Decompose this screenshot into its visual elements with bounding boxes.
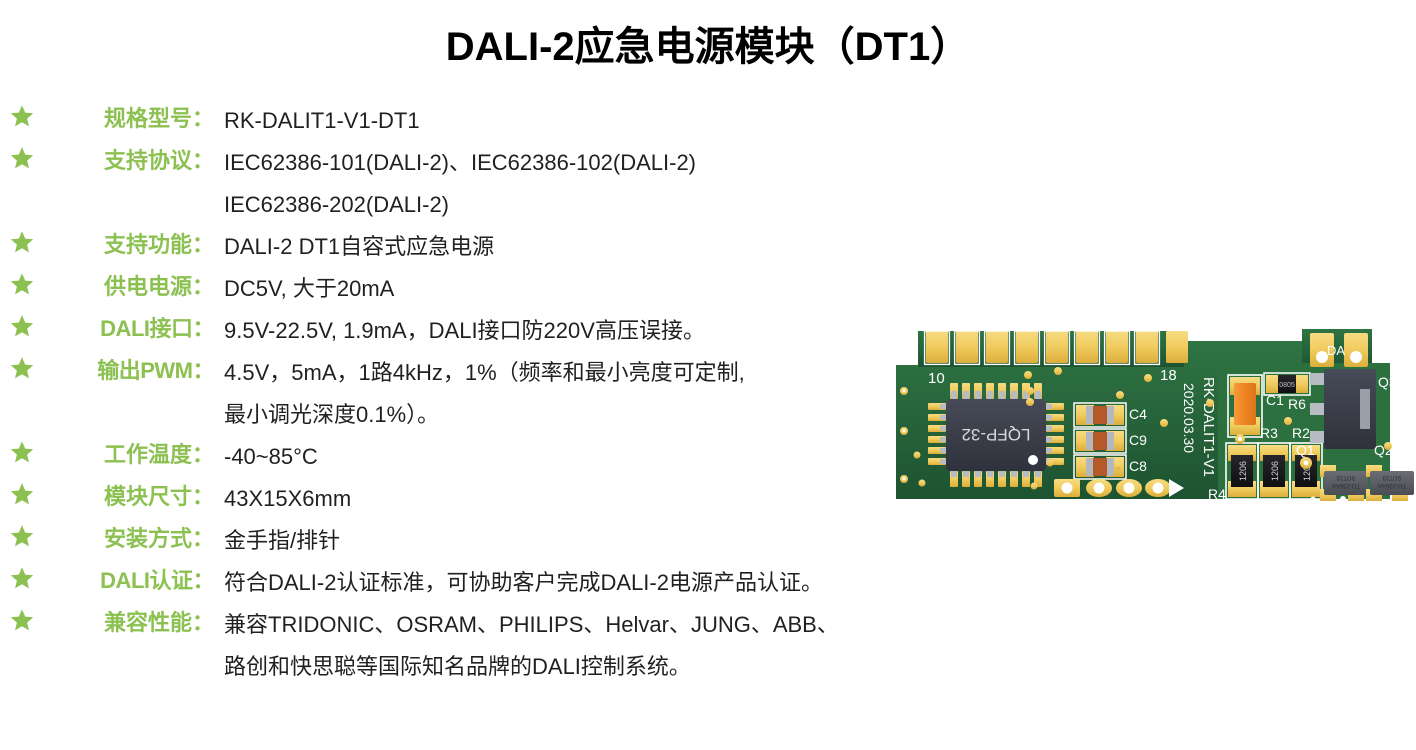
spec-row: 模块尺寸： 43X15X6mm [0,478,880,520]
refdes-c4: C4 [1129,406,1147,422]
spec-value: 符合DALI-2认证标准，可协助客户完成DALI-2电源产品认证。 [214,562,880,604]
star-icon [10,482,34,506]
star-icon [10,146,34,170]
star-icon [10,356,34,380]
star-bullet [0,478,44,506]
spec-value: 兼容TRIDONIC、OSRAM、PHILIPS、Helvar、JUNG、ABB… [214,604,880,688]
spec-row: 支持协议： IEC62386-101(DALI-2)、IEC62386-102(… [0,142,880,226]
star-icon [10,104,34,128]
star-bullet [0,604,44,632]
spec-value: 9.5V-22.5V, 1.9mA，DALI接口防220V高压误接。 [214,310,880,352]
capacitor-array: C4 C9 C8 [1074,403,1147,479]
gold-finger-connector [925,331,1188,364]
spec-label: 规格型号： [44,100,214,138]
spec-value-line: RK-DALIT1-V1-DT1 [224,100,880,142]
spec-label: DALI认证： [44,562,214,600]
silkscreen-pin-10: 10 [928,370,945,387]
spec-label: 工作温度： [44,436,214,474]
star-bullet [0,268,44,296]
pcb-board-graphic: DA 10 18 RK-DALIT1-V1 2020.03.30 [888,303,1416,535]
spec-label: 支持功能： [44,226,214,264]
star-icon [10,314,34,338]
star-icon [10,608,34,632]
spec-row: 规格型号： RK-DALIT1-V1-DT1 [0,100,880,142]
spec-label: 安装方式： [44,520,214,558]
spec-value: RK-DALIT1-V1-DT1 [214,100,880,142]
refdes-q3: Q3 [1378,374,1397,390]
refdes-r4: R4 [1208,486,1226,502]
silkscreen-date-code: 2020.03.30 [1181,383,1197,453]
spec-value: DALI-2 DT1自容式应急电源 [214,226,880,268]
spec-value: 43X15X6mm [214,478,880,520]
spec-label: 输出PWM： [44,352,214,390]
spec-label: 支持协议： [44,142,214,180]
refdes-c9: C9 [1129,432,1147,448]
spec-value-line: DC5V, 大于20mA [224,268,880,310]
svg-text:TO-236AA: TO-236AA [1332,482,1360,488]
spec-value-line: IEC62386-101(DALI-2)、IEC62386-102(DALI-2… [224,142,880,184]
spec-label: 兼容性能： [44,604,214,642]
spec-list: 规格型号： RK-DALIT1-V1-DT1 支持协议： IEC62386-10… [0,100,880,688]
spec-value: -40~85°C [214,436,880,478]
star-bullet [0,310,44,338]
svg-text:TO-236AA: TO-236AA [1378,482,1406,488]
pcb-board-photo: DA 10 18 RK-DALIT1-V1 2020.03.30 [888,303,1416,535]
star-bullet [0,436,44,464]
spec-row: 安装方式： 金手指/排针 [0,520,880,562]
spec-row: DALI接口： 9.5V-22.5V, 1.9mA，DALI接口防220V高压误… [0,310,880,352]
spec-value-line: 符合DALI-2认证标准，可协助客户完成DALI-2电源产品认证。 [224,562,880,604]
spec-value: 金手指/排针 [214,520,880,562]
spec-row: 兼容性能： 兼容TRIDONIC、OSRAM、PHILIPS、Helvar、JU… [0,604,880,688]
silkscreen-part-number: RK-DALIT1-V1 [1200,377,1217,477]
sot23-marking-q1: SOT23 [1336,474,1356,480]
refdes-c8: C8 [1129,458,1147,474]
resistor-code-0805: 0805 [1279,382,1295,389]
star-icon [10,566,34,590]
star-bullet [0,100,44,128]
resistor-code-1206-b: 1206 [1270,461,1280,481]
star-bullet [0,520,44,548]
page-title: DALI-2应急电源模块（DT1） [0,14,1416,72]
spec-value-line: DALI-2 DT1自容式应急电源 [224,226,880,268]
spec-value-line: 9.5V-22.5V, 1.9mA，DALI接口防220V高压误接。 [224,310,880,352]
spec-value: 4.5V，5mA，1路4kHz，1%（频率和最小亮度可定制, 最小调光深度0.1… [214,352,880,436]
spec-value-line: 最小调光深度0.1%）。 [224,394,880,436]
star-icon [10,524,34,548]
refdes-r6: R6 [1288,396,1306,412]
silkscreen-da-label: DA [1327,343,1345,358]
star-bullet [0,142,44,170]
sot23-marking-q2: SOT23 [1382,474,1402,480]
spec-value: DC5V, 大于20mA [214,268,880,310]
silkscreen-pin-18: 18 [1160,367,1177,384]
refdes-r2: R2 [1292,425,1310,441]
star-bullet [0,226,44,254]
refdes-q1: Q1 [1296,442,1315,458]
spec-row: 支持功能： DALI-2 DT1自容式应急电源 [0,226,880,268]
star-bullet [0,562,44,590]
refdes-r3: R3 [1260,425,1278,441]
spec-value-line: -40~85°C [224,436,880,478]
spec-row: 输出PWM： 4.5V，5mA，1路4kHz，1%（频率和最小亮度可定制, 最小… [0,352,880,436]
spec-value-line: 金手指/排针 [224,520,880,562]
spec-value-line: 路创和快思聪等国际知名品牌的DALI控制系统。 [224,646,880,688]
spec-value-line: 43X15X6mm [224,478,880,520]
spec-row: DALI认证： 符合DALI-2认证标准，可协助客户完成DALI-2电源产品认证… [0,562,880,604]
spec-row: 工作温度： -40~85°C [0,436,880,478]
spec-label: 供电电源： [44,268,214,306]
spec-value-line: IEC62386-202(DALI-2) [224,184,880,226]
spec-label: DALI接口： [44,310,214,348]
spec-row: 供电电源： DC5V, 大于20mA [0,268,880,310]
ic-marking-text: LQFP-32 [962,425,1031,444]
star-bullet [0,352,44,380]
resistor-code-1206-a: 1206 [1238,461,1248,481]
spec-value-line: 兼容TRIDONIC、OSRAM、PHILIPS、Helvar、JUNG、ABB… [224,604,880,646]
star-icon [10,272,34,296]
spec-label: 模块尺寸： [44,478,214,516]
star-icon [10,230,34,254]
spec-value: IEC62386-101(DALI-2)、IEC62386-102(DALI-2… [214,142,880,226]
star-icon [10,440,34,464]
spec-value-line: 4.5V，5mA，1路4kHz，1%（频率和最小亮度可定制, [224,352,880,394]
